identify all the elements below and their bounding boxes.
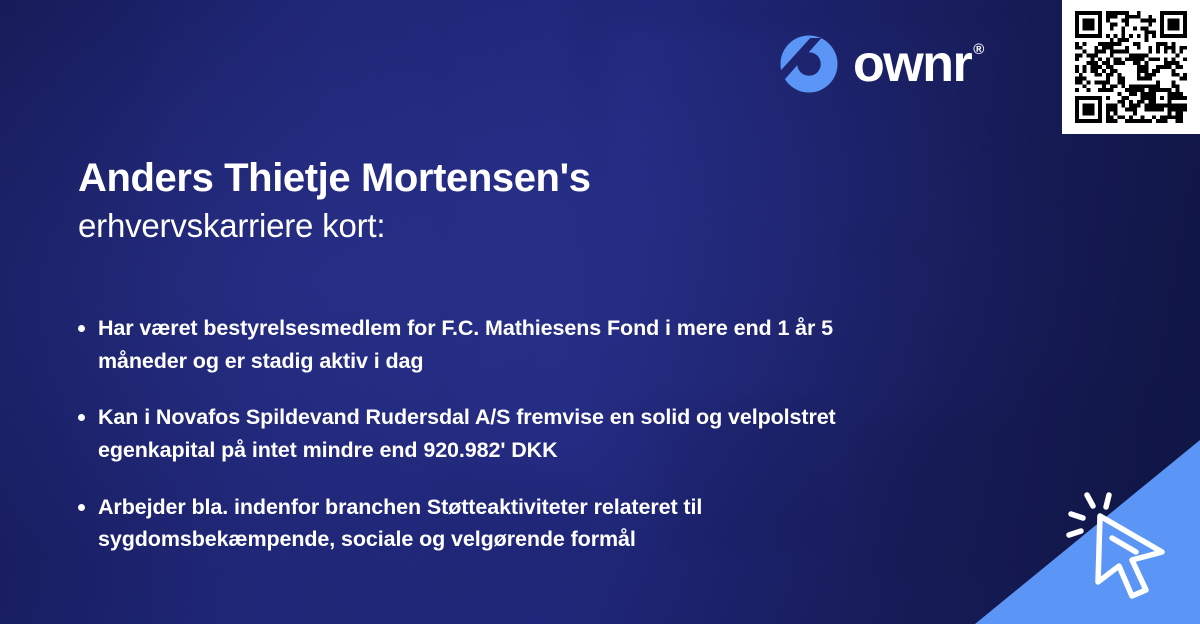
qr-code-panel[interactable] bbox=[1062, 0, 1200, 134]
list-item: Kan i Novafos Spildevand Rudersdal A/S f… bbox=[78, 401, 958, 466]
career-summary-card: ownr ® Anders Thietje Mortensen's erhver… bbox=[0, 0, 1200, 624]
click-cursor-icon bbox=[1062, 482, 1182, 602]
ownr-wordmark: ownr ® bbox=[853, 38, 983, 90]
list-item-label: Arbejder bla. indenfor branchen Støtteak… bbox=[98, 491, 888, 556]
bullet-dot-icon bbox=[78, 325, 85, 332]
page-title-line2: erhvervskarriere kort: bbox=[78, 205, 591, 248]
list-item: Har været bestyrelsesmedlem for F.C. Mat… bbox=[78, 312, 958, 377]
career-highlights-list: Har været bestyrelsesmedlem for F.C. Mat… bbox=[78, 312, 958, 556]
registered-trademark-symbol: ® bbox=[973, 42, 983, 57]
ownr-logo[interactable]: ownr ® bbox=[778, 33, 983, 95]
ownr-circle-swoosh-icon bbox=[778, 33, 840, 95]
list-item-label: Har været bestyrelsesmedlem for F.C. Mat… bbox=[98, 312, 888, 377]
page-title: Anders Thietje Mortensen's erhvervskarri… bbox=[78, 155, 591, 248]
list-item: Arbejder bla. indenfor branchen Støtteak… bbox=[78, 491, 958, 556]
bullet-dot-icon bbox=[78, 504, 85, 511]
page-title-line1: Anders Thietje Mortensen's bbox=[78, 155, 591, 201]
list-item-label: Kan i Novafos Spildevand Rudersdal A/S f… bbox=[98, 401, 888, 466]
ownr-wordmark-text: ownr bbox=[853, 38, 971, 90]
bullet-dot-icon bbox=[78, 414, 85, 421]
qr-code-icon[interactable] bbox=[1075, 11, 1187, 123]
